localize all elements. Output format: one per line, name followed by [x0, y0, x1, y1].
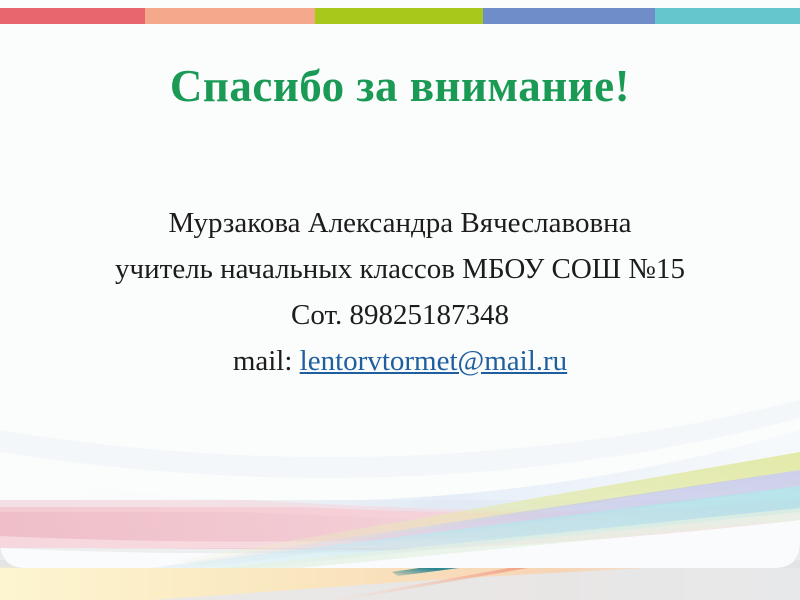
teal-accent-wedge	[392, 556, 520, 576]
topbar-segment-green	[315, 8, 483, 24]
ribbon-yellowgreen	[180, 452, 800, 566]
body-line-school: учитель начальных классов МБОУ СОШ №15	[40, 246, 760, 292]
topbar-segment-red	[0, 8, 145, 24]
ribbon-pale-green	[100, 508, 800, 586]
blue-sweep-curve	[0, 430, 800, 538]
pink-band-highlight	[0, 500, 800, 522]
slide-title: Спасибо за внимание!	[0, 62, 800, 112]
body-line-name: Мурзакова Александра Вячеславовна	[40, 200, 760, 246]
pale-wash-top	[0, 400, 800, 478]
presentation-slide: Спасибо за внимание! Мурзакова Александр…	[0, 0, 800, 600]
topbar-segment-teal	[655, 8, 800, 24]
footer-grey-curve	[150, 562, 800, 600]
footer-grey-strip	[0, 560, 800, 600]
salmon-accent-stripe	[330, 566, 528, 600]
footer-yellow-sweep	[0, 566, 800, 600]
body-line-mail: mail: lentorvtormet@mail.ru	[40, 338, 760, 384]
topbar-segment-blue	[483, 8, 655, 24]
slide-body: Мурзакова Александра Вячеславовна учител…	[40, 200, 760, 384]
card-corner-left	[0, 540, 26, 568]
card-corner-right	[774, 540, 800, 568]
white-arc-overlay	[0, 520, 800, 568]
ribbon-cyan	[120, 486, 800, 580]
ribbon-lavender	[160, 470, 800, 572]
mail-link[interactable]: lentorvtormet@mail.ru	[300, 345, 568, 377]
pink-band	[0, 498, 800, 550]
top-color-bar	[0, 8, 800, 24]
mail-label: mail:	[233, 345, 293, 377]
body-line-phone: Сот. 89825187348	[40, 292, 760, 338]
topbar-segment-salmon	[145, 8, 315, 24]
pink-band-lower-shade	[0, 520, 800, 548]
